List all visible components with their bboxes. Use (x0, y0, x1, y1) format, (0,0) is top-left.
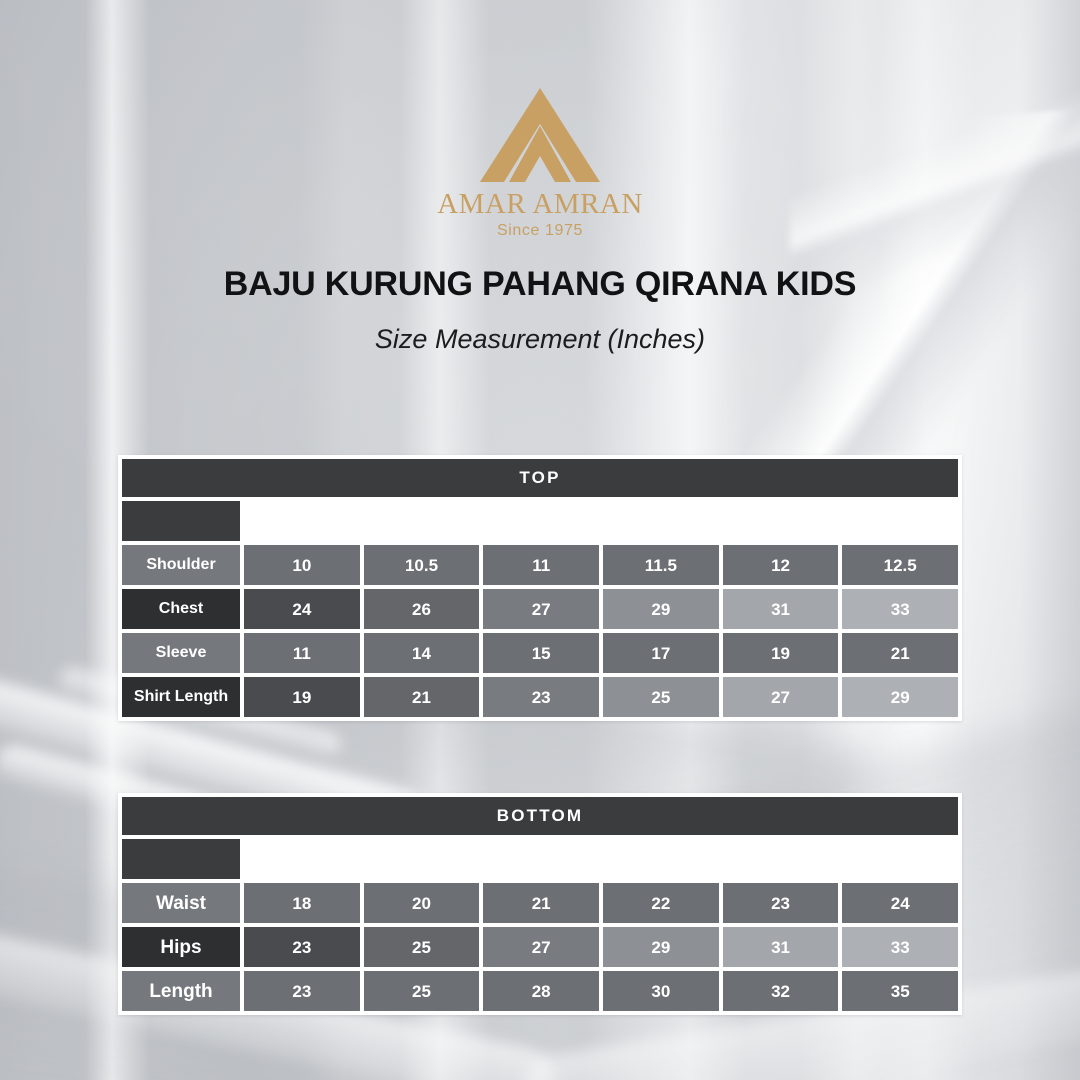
page-title: BAJU KURUNG PAHANG QIRANA KIDS (0, 266, 1080, 303)
brand-logo: AMAR AMRAN Since 1975 (0, 86, 1080, 239)
row-label-hips: Hips (122, 927, 240, 967)
row-label-shoulder: Shoulder (122, 545, 240, 585)
cell-hips-size-12: 33 (842, 927, 958, 967)
cell-shirt-length-size-4: 21 (364, 677, 480, 717)
cell-hips-size-10: 31 (723, 927, 839, 967)
heading-block: BAJU KURUNG PAHANG QIRANA KIDS Size Meas… (0, 266, 1080, 355)
cell-waist-size-4: 20 (364, 883, 480, 923)
brand-name: AMAR AMRAN (437, 190, 643, 219)
cell-sleeve-size-4: 14 (364, 633, 480, 673)
cell-shirt-length-size-12: 29 (842, 677, 958, 717)
table-row: Shoulder 10 10.5 11 11.5 12 12.5 (122, 545, 958, 585)
bottom-col-header-size-4: Size 4 (364, 839, 480, 879)
cell-chest-size-8: 29 (603, 589, 719, 629)
top-col-header-size-10: Size 10 (723, 501, 839, 541)
cell-chest-size-12: 33 (842, 589, 958, 629)
cell-shirt-length-size-10: 27 (723, 677, 839, 717)
row-label-chest: Chest (122, 589, 240, 629)
top-col-header-size-12: Size 12 (842, 501, 958, 541)
table-row: Waist 18 20 21 22 23 24 (122, 883, 958, 923)
bottom-col-header-size-10: Size 10 (723, 839, 839, 879)
cell-length-size-10: 32 (723, 971, 839, 1011)
page-subtitle: Size Measurement (Inches) (0, 325, 1080, 355)
cell-length-size-4: 25 (364, 971, 480, 1011)
bottom-col-header-size-6: Size 6 (483, 839, 599, 879)
cell-waist-size-8: 22 (603, 883, 719, 923)
cell-shoulder-size-8: 11.5 (603, 545, 719, 585)
cell-sleeve-size-12: 21 (842, 633, 958, 673)
top-table-corner-cell (122, 501, 240, 541)
brand-tagline: Since 1975 (497, 223, 583, 239)
table-row: Shirt Length 19 21 23 25 27 29 (122, 677, 958, 717)
cell-shoulder-size-6: 11 (483, 545, 599, 585)
bottom-col-header-size-2: Size 2 (244, 839, 360, 879)
bottom-size-table: BOTTOM Size 2 Size 4 Size 6 Size 8 Size … (118, 793, 962, 1015)
cell-shirt-length-size-6: 23 (483, 677, 599, 717)
bottom-col-header-size-12: Size 12 (842, 839, 958, 879)
cell-chest-size-10: 31 (723, 589, 839, 629)
cell-shoulder-size-4: 10.5 (364, 545, 480, 585)
cell-waist-size-10: 23 (723, 883, 839, 923)
cell-hips-size-2: 23 (244, 927, 360, 967)
cell-shoulder-size-12: 12.5 (842, 545, 958, 585)
cell-sleeve-size-8: 17 (603, 633, 719, 673)
top-table-header-row: Size 2 Size 4 Size 6 Size 8 Size 10 Size… (122, 501, 958, 541)
bottom-col-header-size-8: Size 8 (603, 839, 719, 879)
size-chart-page: AMAR AMRAN Since 1975 BAJU KURUNG PAHANG… (0, 0, 1080, 1080)
top-size-table: TOP Size 2 Size 4 Size 6 Size 8 Size 10 … (118, 455, 962, 721)
cell-shirt-length-size-2: 19 (244, 677, 360, 717)
row-label-shirt-length: Shirt Length (122, 677, 240, 717)
cell-hips-size-4: 25 (364, 927, 480, 967)
table-row: Hips 23 25 27 29 31 33 (122, 927, 958, 967)
cell-waist-size-2: 18 (244, 883, 360, 923)
bottom-table-header-row: Size 2 Size 4 Size 6 Size 8 Size 10 Size… (122, 839, 958, 879)
cell-shoulder-size-2: 10 (244, 545, 360, 585)
cell-length-size-12: 35 (842, 971, 958, 1011)
cell-sleeve-size-10: 19 (723, 633, 839, 673)
cell-length-size-6: 28 (483, 971, 599, 1011)
table-row: Chest 24 26 27 29 31 33 (122, 589, 958, 629)
top-col-header-size-2: Size 2 (244, 501, 360, 541)
cell-hips-size-6: 27 (483, 927, 599, 967)
table-row: Length 23 25 28 30 32 35 (122, 971, 958, 1011)
table-row: Sleeve 11 14 15 17 19 21 (122, 633, 958, 673)
top-table-banner: TOP (122, 459, 958, 497)
cell-chest-size-6: 27 (483, 589, 599, 629)
top-col-header-size-8: Size 8 (603, 501, 719, 541)
cell-waist-size-12: 24 (842, 883, 958, 923)
bottom-table-banner: BOTTOM (122, 797, 958, 835)
row-label-sleeve: Sleeve (122, 633, 240, 673)
cell-sleeve-size-2: 11 (244, 633, 360, 673)
cell-length-size-2: 23 (244, 971, 360, 1011)
row-label-waist: Waist (122, 883, 240, 923)
cell-length-size-8: 30 (603, 971, 719, 1011)
cell-shirt-length-size-8: 25 (603, 677, 719, 717)
cell-hips-size-8: 29 (603, 927, 719, 967)
cell-chest-size-4: 26 (364, 589, 480, 629)
bottom-table-corner-cell (122, 839, 240, 879)
top-col-header-size-6: Size 6 (483, 501, 599, 541)
cell-chest-size-2: 24 (244, 589, 360, 629)
row-label-length: Length (122, 971, 240, 1011)
cell-shoulder-size-10: 12 (723, 545, 839, 585)
top-col-header-size-4: Size 4 (364, 501, 480, 541)
chevron-mark-icon (478, 86, 602, 184)
cell-sleeve-size-6: 15 (483, 633, 599, 673)
cell-waist-size-6: 21 (483, 883, 599, 923)
